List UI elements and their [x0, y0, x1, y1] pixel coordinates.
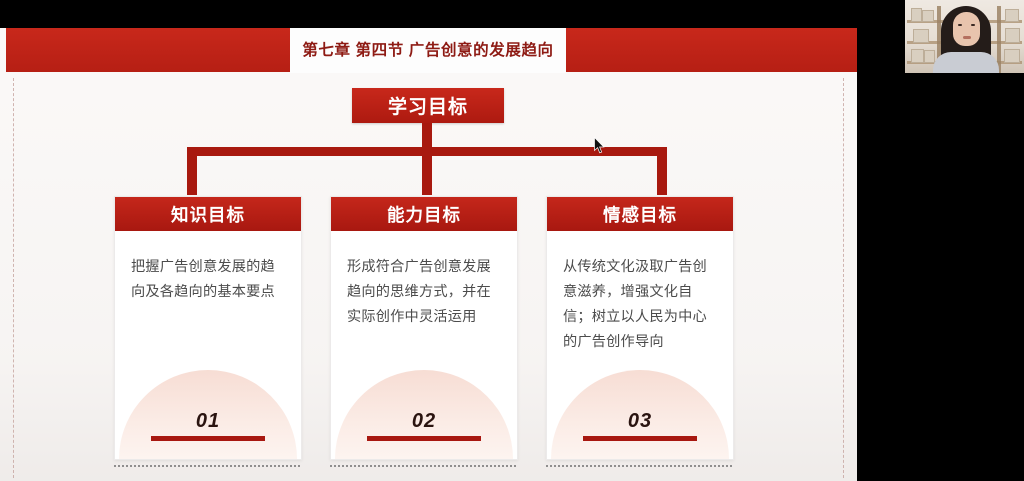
objective-card-body: 从传统文化汲取广告创意滋养，增强文化自信；树立以人民为中心的广告创作导向	[563, 255, 717, 355]
objective-card-header: 情感目标	[547, 197, 733, 231]
webcam-shelf-item	[1005, 9, 1019, 22]
webcam-shelf-item	[913, 29, 929, 43]
objective-card-body: 把握广告创意发展的趋向及各趋向的基本要点	[131, 255, 285, 305]
webcam-person-body	[933, 52, 999, 73]
presentation-slide: 第七章 第四节 广告创意的发展趋向 学习目标 知识目标 把握广告创意发展的趋向及…	[0, 28, 857, 481]
objectives-tree-diagram: 学习目标 知识目标 把握广告创意发展的趋向及各趋向的基本要点 01 能力目标	[0, 28, 857, 481]
objective-card-number-underline	[367, 436, 481, 441]
objective-card-header: 知识目标	[115, 197, 301, 231]
webcam-shelf-item	[924, 50, 935, 63]
objective-card-header: 能力目标	[331, 197, 517, 231]
objective-card-body: 形成符合广告创意发展趋向的思维方式，并在实际创作中灵活运用	[347, 255, 501, 330]
webcam-shelf-item	[1005, 28, 1020, 43]
objective-card: 情感目标 从传统文化汲取广告创意滋养，增强文化自信；树立以人民为中心的广告创作导…	[546, 196, 734, 460]
objective-card: 能力目标 形成符合广告创意发展趋向的思维方式，并在实际创作中灵活运用 02	[330, 196, 518, 460]
root-node-label: 学习目标	[388, 92, 468, 119]
webcam-person-eye	[958, 24, 962, 26]
card-dotted-guide	[330, 465, 516, 468]
connector-drop-2	[422, 147, 432, 195]
screen-root: 第七章 第四节 广告创意的发展趋向 学习目标 知识目标 把握广告创意发展的趋向及…	[0, 0, 1024, 481]
webcam-shelf-item	[1004, 49, 1020, 63]
objective-card-number: 02	[331, 410, 517, 433]
webcam-shelf-item	[911, 8, 922, 22]
connector-stem	[422, 123, 432, 147]
root-node-learning-objectives: 学习目标	[352, 88, 504, 123]
webcam-person-eye	[971, 24, 975, 26]
objective-card-header-label: 情感目标	[603, 202, 677, 227]
arrow-pointer-icon	[594, 137, 606, 154]
webcam-shelf-item	[922, 10, 934, 22]
webcam-shelf-item	[911, 49, 924, 63]
objective-card-number: 01	[115, 410, 301, 433]
objective-card-header-label: 知识目标	[171, 202, 245, 227]
webcam-person-face	[953, 12, 980, 46]
connector-drop-1	[187, 147, 197, 195]
objective-card-number-underline	[583, 436, 697, 441]
objective-card-header-label: 能力目标	[387, 202, 461, 227]
presenter-webcam-video[interactable]	[905, 0, 1024, 73]
objective-card: 知识目标 把握广告创意发展的趋向及各趋向的基本要点 01	[114, 196, 302, 460]
connector-drop-3	[657, 147, 667, 195]
objective-card-number: 03	[547, 410, 733, 433]
card-dotted-guide	[114, 465, 300, 468]
objective-card-number-underline	[151, 436, 265, 441]
card-dotted-guide	[546, 465, 732, 468]
webcam-person-mouth	[963, 36, 971, 39]
